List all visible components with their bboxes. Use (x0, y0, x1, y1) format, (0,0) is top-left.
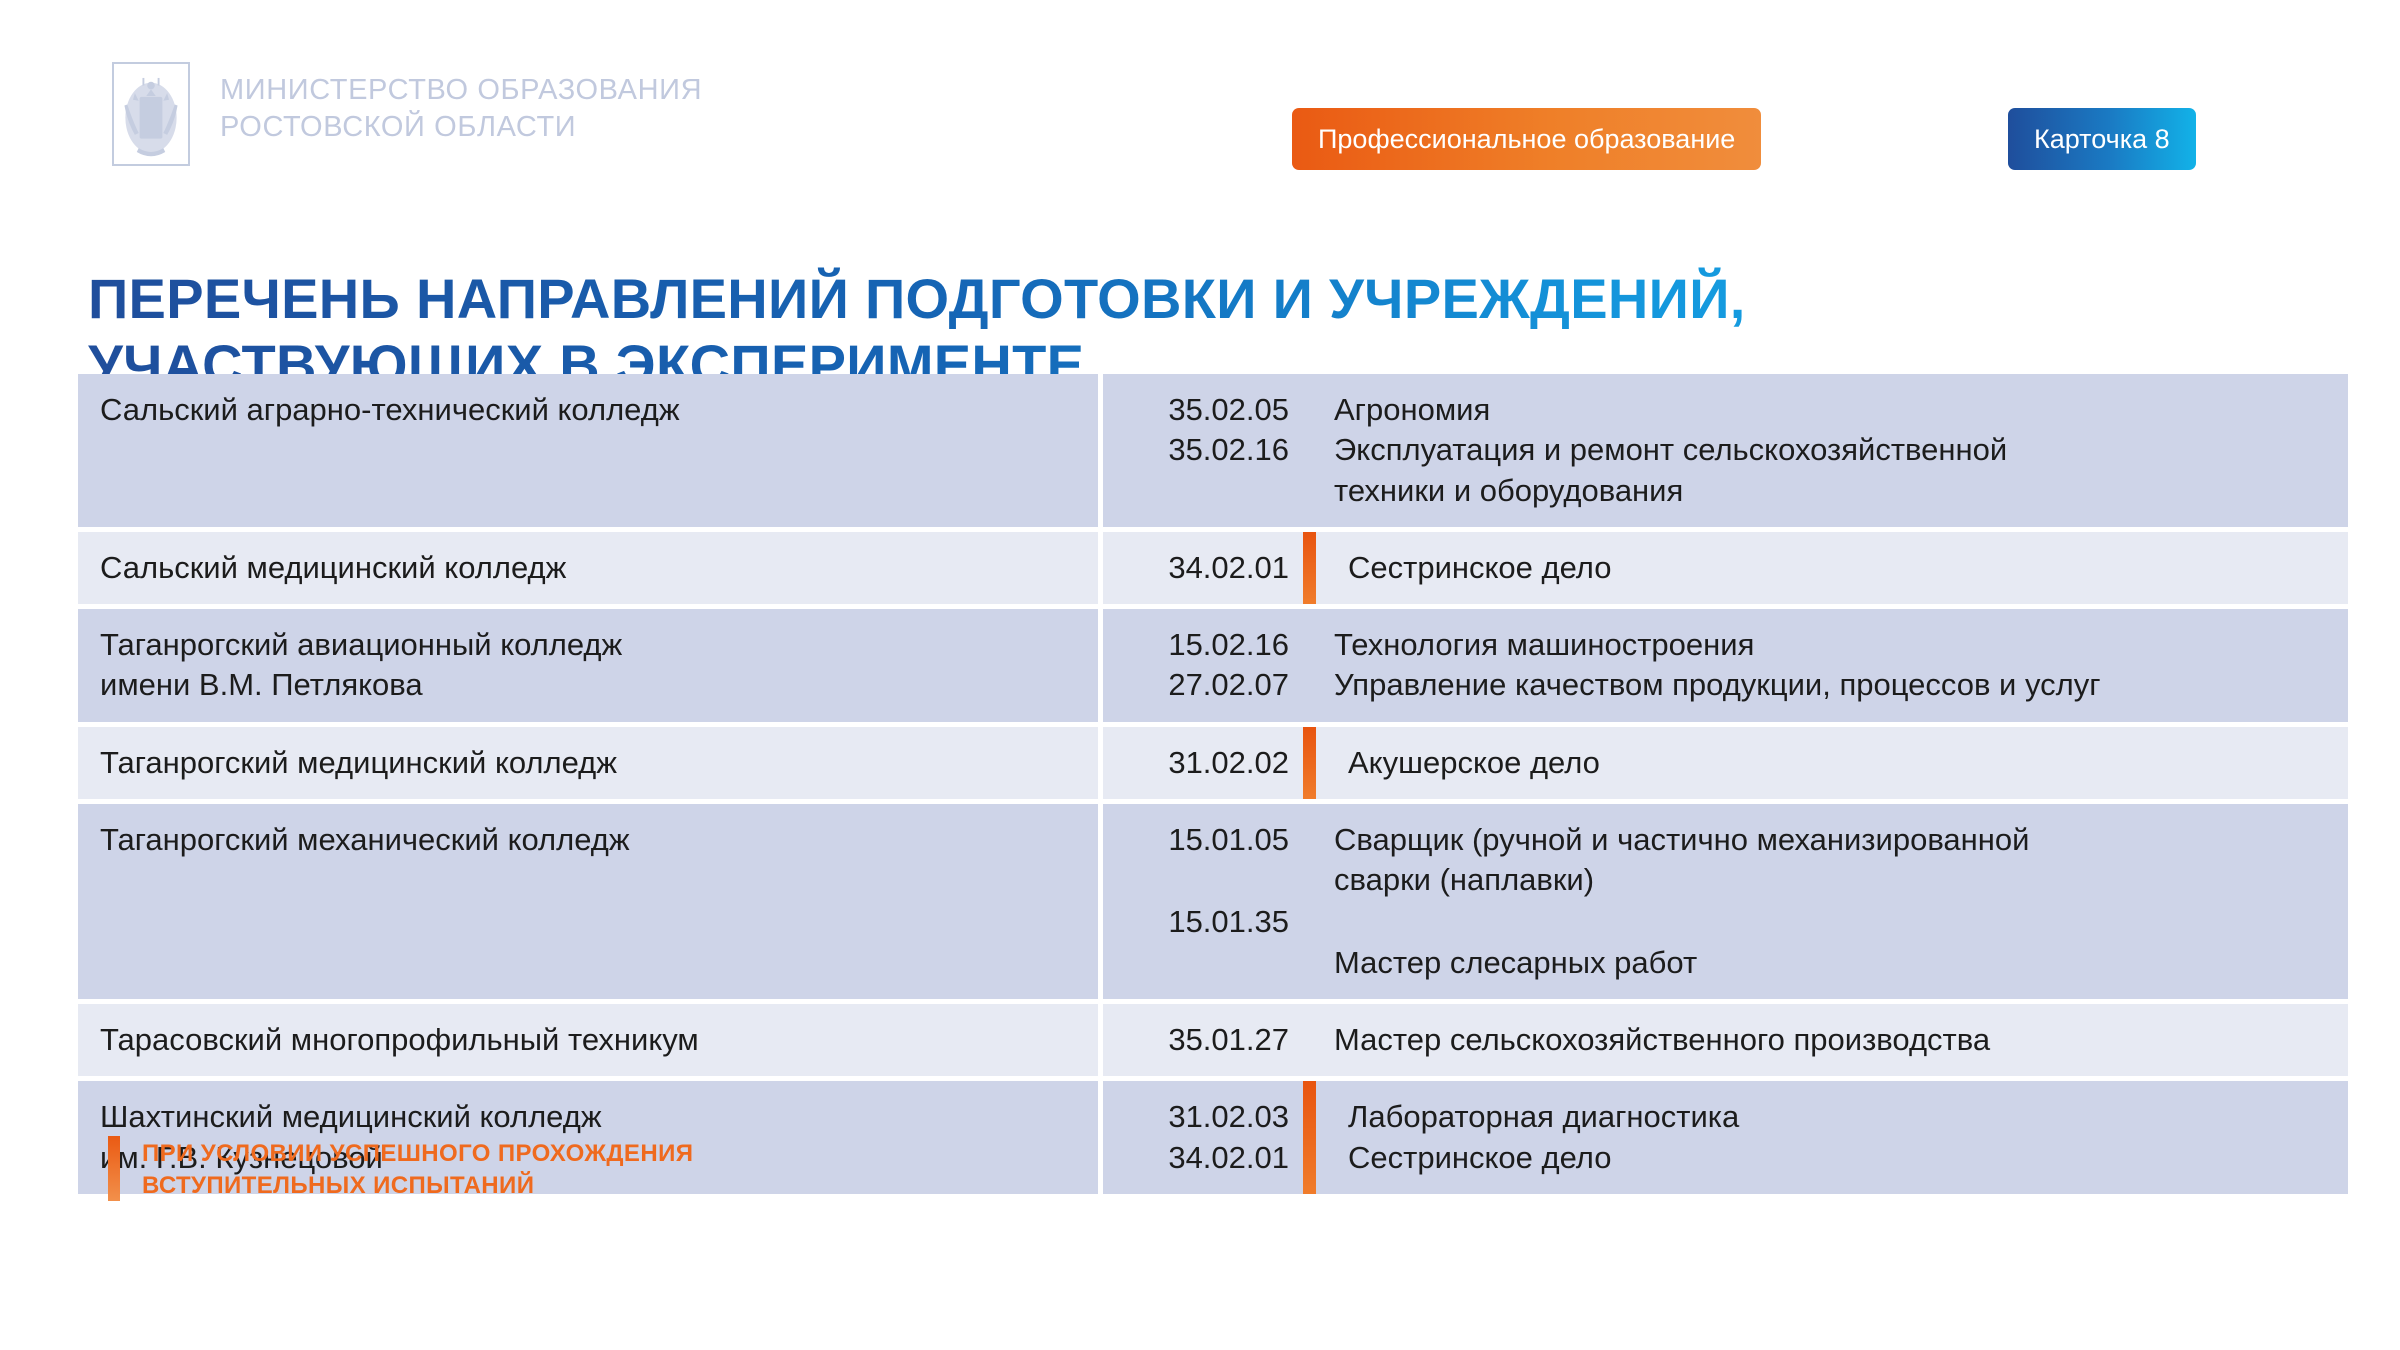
specialty-code: 35.01.27 (1103, 1020, 1289, 1060)
specialty-code: 34.02.01 (1103, 1138, 1289, 1178)
program-name: Акушерское дело (1348, 743, 2332, 783)
table-row: Таганрогский медицинский колледж31.02.02… (78, 727, 2348, 799)
specialty-codes: 35.02.0535.02.16 (1103, 374, 1303, 527)
specialty-code: 15.01.05 (1103, 820, 1289, 860)
specialty-codes: 15.02.1627.02.07 (1103, 609, 1303, 722)
table-row: Сальский медицинский колледж34.02.01Сест… (78, 532, 2348, 604)
marker-bar (1303, 532, 1316, 604)
footnote: ПРИ УСЛОВИИ УСПЕШНОГО ПРОХОЖДЕНИЯ ВСТУПИ… (108, 1136, 693, 1201)
marker-bar (1303, 609, 1316, 722)
table-row: Сальский аграрно-технический колледж35.0… (78, 374, 2348, 527)
entrance-exam-marker (1303, 1081, 1320, 1194)
badge-professional-education-label: Профессиональное образование (1318, 124, 1735, 155)
specialty-codes: 34.02.01 (1103, 532, 1303, 604)
specialty-code: 31.02.03 (1103, 1097, 1289, 1137)
program-name: Технология машиностроения (1334, 625, 2332, 665)
page-header: МИНИСТЕРСТВО ОБРАЗОВАНИЯ РОСТОВСКОЙ ОБЛА… (0, 0, 2400, 210)
marker-bar (1303, 804, 1316, 999)
entrance-exam-marker (1303, 727, 1320, 799)
program-name: Управление качеством продукции, процессо… (1334, 665, 2332, 705)
specialty-code: 35.02.05 (1103, 390, 1289, 430)
institution-name: Таганрогский авиационный колледж имени В… (78, 609, 1098, 722)
marker-placeholder (1303, 609, 1320, 722)
program-names: Мастер сельскохозяйственного производств… (1320, 1004, 2348, 1076)
specialty-codes: 31.02.0334.02.01 (1103, 1081, 1303, 1194)
footnote-text: ПРИ УСЛОВИИ УСПЕШНОГО ПРОХОЖДЕНИЯ ВСТУПИ… (142, 1136, 693, 1201)
marker-placeholder (1303, 1004, 1320, 1076)
institution-name: Сальский медицинский колледж (78, 532, 1098, 604)
badge-card-number[interactable]: Карточка 8 (2008, 108, 2196, 170)
program-name: Сестринское дело (1348, 548, 2332, 588)
ministry-brand: МИНИСТЕРСТВО ОБРАЗОВАНИЯ РОСТОВСКОЙ ОБЛА… (112, 62, 702, 166)
institution-name: Таганрогский механический колледж (78, 804, 1098, 999)
entrance-exam-marker (1303, 532, 1320, 604)
badge-professional-education[interactable]: Профессиональное образование (1292, 108, 1761, 170)
specialty-code: 15.01.35 (1103, 902, 1289, 942)
marker-bar (1303, 1004, 1316, 1076)
specialty-code: 31.02.02 (1103, 743, 1289, 783)
programs-table: Сальский аграрно-технический колледж35.0… (78, 374, 2348, 1199)
specialty-code: 35.02.16 (1103, 430, 1289, 470)
program-name: Агрономия (1334, 390, 2332, 430)
specialty-code: 34.02.01 (1103, 548, 1289, 588)
marker-placeholder (1303, 374, 1320, 527)
program-names: АгрономияЭксплуатация и ремонт сельскохо… (1320, 374, 2348, 527)
specialty-code: 15.02.16 (1103, 625, 1289, 665)
program-name: Эксплуатация и ремонт сельскохозяйственн… (1334, 430, 2332, 511)
ministry-name: МИНИСТЕРСТВО ОБРАЗОВАНИЯ РОСТОВСКОЙ ОБЛА… (220, 62, 702, 146)
table-row: Тарасовский многопрофильный техникум35.0… (78, 1004, 2348, 1076)
program-name: Сварщик (ручной и частично механизирован… (1334, 820, 2332, 901)
marker-bar (1303, 374, 1316, 527)
specialty-code: 27.02.07 (1103, 665, 1289, 705)
program-names: Сварщик (ручной и частично механизирован… (1320, 804, 2348, 999)
table-row: Таганрогский авиационный колледж имени В… (78, 609, 2348, 722)
specialty-codes: 35.01.27 (1103, 1004, 1303, 1076)
institution-name: Тарасовский многопрофильный техникум (78, 1004, 1098, 1076)
footnote-accent-bar (108, 1136, 120, 1201)
table-row: Таганрогский механический колледж15.01.0… (78, 804, 2348, 999)
program-name: Мастер слесарных работ (1334, 943, 2332, 983)
program-name: Лабораторная диагностика (1348, 1097, 2332, 1137)
coat-of-arms-icon (112, 62, 190, 166)
marker-bar (1303, 1081, 1316, 1194)
marker-bar (1303, 727, 1316, 799)
program-name: Мастер сельскохозяйственного производств… (1334, 1020, 2332, 1060)
program-name: Сестринское дело (1348, 1138, 2332, 1178)
program-names: Акушерское дело (1320, 727, 2348, 799)
specialty-codes: 31.02.02 (1103, 727, 1303, 799)
institution-name: Сальский аграрно-технический колледж (78, 374, 1098, 527)
specialty-codes: 15.01.0515.01.35 (1103, 804, 1303, 999)
marker-placeholder (1303, 804, 1320, 999)
program-names: Технология машиностроенияУправление каче… (1320, 609, 2348, 722)
institution-name: Таганрогский медицинский колледж (78, 727, 1098, 799)
badge-card-number-label: Карточка 8 (2034, 124, 2170, 155)
program-names: Лабораторная диагностикаСестринское дело (1320, 1081, 2348, 1194)
program-names: Сестринское дело (1320, 532, 2348, 604)
